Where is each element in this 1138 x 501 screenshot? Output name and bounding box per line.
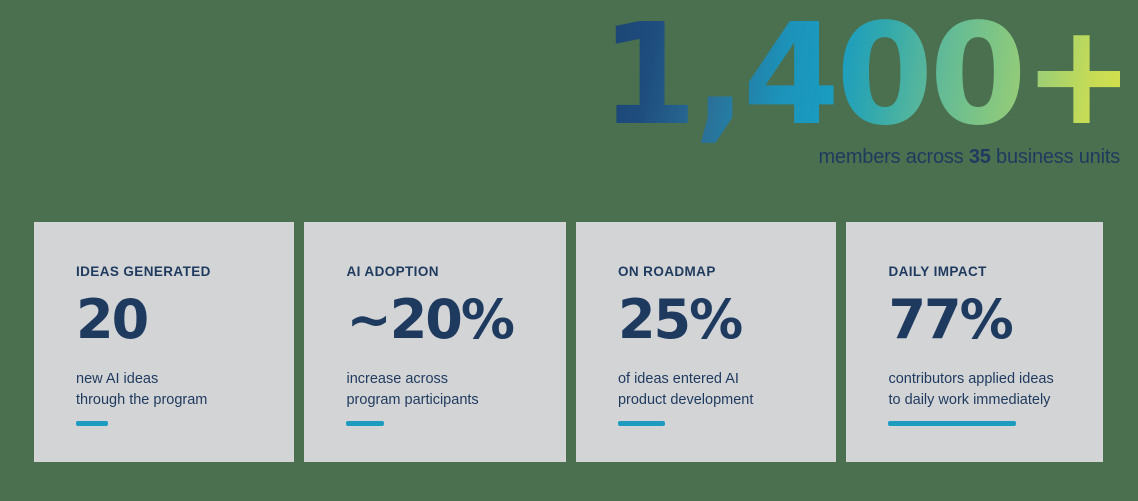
stat-card-description: increase across program participants — [346, 369, 565, 411]
stat-card-value: 20 — [76, 293, 294, 347]
stat-card-accent-bar — [346, 421, 384, 426]
stat-card-description-line-1: of ideas entered AI — [618, 369, 836, 390]
stat-card-label: IDEAS GENERATED — [76, 264, 294, 279]
stat-card-description-line-2: product development — [618, 390, 836, 411]
stat-card-description: of ideas entered AI product development — [618, 369, 836, 411]
stat-card-accent-bar — [618, 421, 665, 426]
stat-card-value: ~20% — [346, 293, 565, 347]
stat-card-daily-impact: DAILY IMPACT 77% contributors applied id… — [846, 222, 1103, 462]
stat-card-description-line-1: new AI ideas — [76, 369, 294, 390]
infographic-canvas: 1,400+ members across 35 business units … — [0, 0, 1138, 501]
stat-card-label: DAILY IMPACT — [888, 264, 1103, 279]
stat-card-value: 77% — [888, 293, 1103, 347]
stat-card-label: AI ADOPTION — [346, 264, 565, 279]
hero-headline-figure: 1,400+ — [600, 6, 1120, 146]
stat-card-value: 25% — [618, 293, 836, 347]
hero-section: 1,400+ members across 35 business units — [600, 6, 1120, 169]
stat-card-description: new AI ideas through the program — [76, 369, 294, 411]
hero-subtitle-number: 35 — [969, 146, 991, 168]
hero-subtitle-suffix: business units — [991, 146, 1120, 168]
stat-card-description-line-2: program participants — [346, 390, 565, 411]
stat-card-ai-adoption: AI ADOPTION ~20% increase across program… — [304, 222, 565, 462]
stat-card-ideas-generated: IDEAS GENERATED 20 new AI ideas through … — [34, 222, 294, 462]
stat-card-description-line-1: increase across — [346, 369, 565, 390]
stat-card-description: contributors applied ideas to daily work… — [888, 369, 1103, 411]
stat-card-on-roadmap: ON ROADMAP 25% of ideas entered AI produ… — [576, 222, 836, 462]
stat-card-description-line-2: through the program — [76, 390, 294, 411]
stat-card-accent-bar — [888, 421, 1016, 426]
stat-card-label: ON ROADMAP — [618, 264, 836, 279]
stat-card-description-line-2: to daily work immediately — [888, 390, 1103, 411]
stat-card-row: IDEAS GENERATED 20 new AI ideas through … — [34, 222, 1103, 462]
stat-card-accent-bar — [76, 421, 108, 426]
stat-card-description-line-1: contributors applied ideas — [888, 369, 1103, 390]
hero-subtitle-prefix: members across — [818, 146, 968, 168]
